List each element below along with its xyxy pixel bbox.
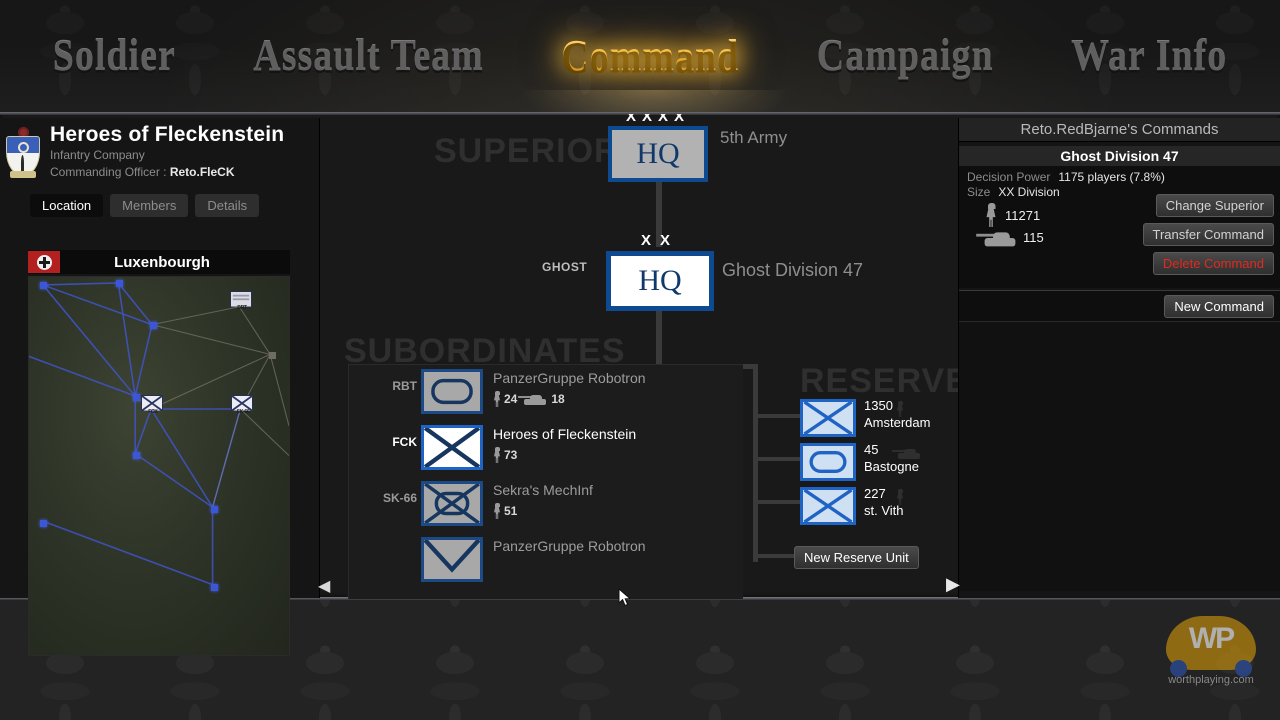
- mouse-cursor-icon: [618, 588, 632, 608]
- worthplaying-watermark: WP worthplaying.com: [1152, 612, 1270, 704]
- subordinate-stats: 24 18: [493, 391, 565, 407]
- reserves-list: 1350 Amsterdam 45 Bastogne 227 st. Vith: [800, 399, 960, 531]
- map-node-neutral[interactable]: [269, 352, 276, 359]
- scroll-left-arrow-icon[interactable]: ◀: [318, 578, 332, 596]
- subordinates-list: RBT PanzerGruppe Robotron 24 18 FCK: [348, 364, 743, 599]
- unit-header: Heroes of Fleckenstein Infantry Company …: [0, 118, 319, 180]
- nav-tab-war-info[interactable]: War Info: [1071, 30, 1227, 82]
- reserve-place: Bastogne: [864, 459, 919, 474]
- soldier-count: 24: [493, 391, 517, 407]
- command-action-buttons: Change Superior Transfer Command Delete …: [1143, 194, 1275, 275]
- delete-command-button[interactable]: Delete Command: [1153, 252, 1274, 275]
- commands-list-empty-area: [959, 321, 1280, 591]
- map-node[interactable]: [40, 282, 47, 289]
- armor-symbol-icon[interactable]: [800, 443, 856, 481]
- subordinate-name: Sekra's MechInf: [493, 482, 593, 498]
- tab-details[interactable]: Details: [195, 194, 259, 217]
- nav-tab-soldier[interactable]: Soldier: [53, 30, 176, 82]
- new-command-row: New Command: [959, 291, 1280, 321]
- subordinate-name: Heroes of Fleckenstein: [493, 426, 636, 442]
- new-command-button[interactable]: New Command: [1164, 295, 1274, 318]
- command-details: Decision Power 1175 players (7.8%) Size …: [959, 166, 1280, 288]
- infantry-symbol-icon[interactable]: [800, 399, 856, 437]
- size-label: Size: [967, 185, 990, 200]
- tank-icon: [982, 229, 1018, 246]
- map-unit-label: FCK: [142, 409, 164, 415]
- subordinate-tag: RBT: [359, 379, 417, 393]
- map-unit-marker[interactable]: SK-66: [231, 395, 253, 411]
- map-unit-label: BRT: [231, 305, 253, 311]
- commands-panel: Reto.RedBjarne's Commands Ghost Division…: [958, 118, 1280, 598]
- map-node[interactable]: [133, 394, 140, 401]
- reserve-row[interactable]: 227 st. Vith: [800, 487, 960, 529]
- tab-members[interactable]: Members: [110, 194, 188, 217]
- subordinate-tag: SK-66: [359, 491, 417, 505]
- unit-crest-icon: [4, 124, 42, 180]
- soldier-count-value: 24: [504, 392, 517, 406]
- soldier-icon: [985, 203, 997, 227]
- reserve-count: 227: [864, 486, 886, 501]
- map-node[interactable]: [211, 584, 218, 591]
- location-name: Luxenbourgh: [60, 254, 290, 271]
- nav-tab-assault-team[interactable]: Assault Team: [253, 30, 484, 82]
- decision-power-label: Decision Power: [967, 170, 1050, 185]
- superior-hq-node[interactable]: HQ: [608, 126, 708, 182]
- reserve-row[interactable]: 1350 Amsterdam: [800, 399, 960, 441]
- tank-count: 18: [522, 392, 564, 406]
- soldier-total-value: 11271: [1005, 208, 1040, 223]
- tree-connector-branch: [753, 554, 798, 558]
- infantry-symbol-icon[interactable]: [800, 487, 856, 525]
- decision-power-row: Decision Power 1175 players (7.8%): [967, 170, 1272, 185]
- new-reserve-unit-button[interactable]: New Reserve Unit: [794, 546, 919, 569]
- reserve-count: 45: [864, 442, 878, 457]
- division-echelon-label: XX: [606, 232, 714, 249]
- subordinate-name: PanzerGruppe Robotron: [493, 370, 646, 386]
- tank-count-value: 18: [551, 392, 564, 406]
- recon-symbol-icon[interactable]: [421, 537, 483, 582]
- selected-command-name: Ghost Division 47: [959, 146, 1280, 166]
- size-value: XX Division: [998, 185, 1059, 200]
- reserve-place: Amsterdam: [864, 415, 930, 430]
- subordinate-row[interactable]: PanzerGruppe Robotron: [349, 533, 743, 589]
- co-name: Reto.FleCK: [170, 165, 235, 179]
- tank-total-value: 115: [1023, 230, 1044, 245]
- nav-tab-command[interactable]: Command: [561, 30, 739, 82]
- soldier-count: 51: [493, 503, 517, 519]
- map-node[interactable]: [150, 322, 157, 329]
- map-node[interactable]: [40, 520, 47, 527]
- tree-connector-vertical: [753, 364, 758, 562]
- reserve-row[interactable]: 45 Bastogne: [800, 443, 960, 485]
- subordinate-row[interactable]: SK-66 Sekra's MechInf 51: [349, 477, 743, 533]
- superior-hq-badge: HQ: [636, 137, 679, 171]
- soldier-count-value: 51: [504, 504, 517, 518]
- subordinate-stats: 51: [493, 503, 517, 519]
- soldier-count-value: 73: [504, 448, 517, 462]
- subordinate-row[interactable]: RBT PanzerGruppe Robotron 24 18: [349, 365, 743, 421]
- subordinate-row[interactable]: FCK Heroes of Fleckenstein 73: [349, 421, 743, 477]
- wp-logo-letters: WP: [1152, 622, 1270, 656]
- co-label: Commanding Officer :: [50, 165, 167, 179]
- division-hq-node[interactable]: HQ: [606, 251, 714, 311]
- tank-icon: [896, 447, 922, 459]
- tree-connector-branch: [753, 414, 801, 418]
- soldier-icon: [493, 391, 501, 407]
- transfer-command-button[interactable]: Transfer Command: [1143, 223, 1275, 246]
- unit-name: Heroes of Fleckenstein: [50, 124, 284, 146]
- main-navigation: Soldier Assault Team Command Campaign Wa…: [0, 0, 1280, 112]
- unit-type: Infantry Company: [50, 148, 284, 162]
- subordinate-stats: 73: [493, 447, 517, 463]
- reserve-count: 1350: [864, 398, 893, 413]
- map-node[interactable]: [211, 506, 218, 513]
- map-links: [29, 277, 289, 654]
- unit-meta: Heroes of Fleckenstein Infantry Company …: [50, 122, 284, 180]
- scroll-right-arrow-icon[interactable]: ▶: [946, 574, 962, 594]
- location-header: Luxenbourgh: [28, 250, 290, 274]
- division-tag: GHOST: [542, 260, 587, 274]
- division-hq-badge: HQ: [638, 264, 681, 298]
- tree-connector-vertical: [656, 311, 662, 368]
- tree-connector-branch: [753, 500, 801, 504]
- commands-panel-title: Reto.RedBjarne's Commands: [959, 118, 1280, 142]
- faction-flag-icon: [28, 251, 60, 273]
- mech-infantry-symbol-icon[interactable]: [421, 481, 483, 526]
- superior-echelon-label: XXXX: [608, 114, 708, 125]
- tab-location[interactable]: Location: [30, 194, 103, 217]
- superior-section-label: SUPERIOR: [434, 132, 620, 171]
- subordinate-tag: FCK: [359, 435, 417, 449]
- soldier-icon: [493, 503, 501, 519]
- soldier-icon: [493, 447, 501, 463]
- soldier-count: 73: [493, 447, 517, 463]
- map-node[interactable]: [116, 280, 123, 287]
- change-superior-button[interactable]: Change Superior: [1156, 194, 1274, 217]
- subordinate-name: PanzerGruppe Robotron: [493, 538, 646, 554]
- map-building-marker[interactable]: BRT: [230, 291, 252, 307]
- superior-node-name: 5th Army: [720, 128, 787, 148]
- panel-tabs: Location Members Details: [0, 180, 319, 217]
- nav-tab-campaign[interactable]: Campaign: [817, 30, 994, 82]
- infantry-symbol-icon[interactable]: [421, 425, 483, 470]
- division-node-name: Ghost Division 47: [722, 260, 863, 281]
- command-tree: SUPERIOR SUBORDINATES RESERVES HQ XXXX 5…: [330, 114, 960, 599]
- tank-icon: [522, 393, 548, 405]
- reserves-section-label: RESERVES: [800, 362, 960, 401]
- map-unit-label: SK-66: [232, 409, 254, 415]
- armor-symbol-icon[interactable]: [421, 369, 483, 414]
- unit-info-panel: Heroes of Fleckenstein Infantry Company …: [0, 118, 320, 598]
- map-unit-marker[interactable]: FCK: [141, 395, 163, 411]
- commanding-officer-line: Commanding Officer : Reto.FleCK: [50, 165, 284, 179]
- strategic-map[interactable]: FCK SK-66 BRT: [28, 276, 290, 656]
- map-node[interactable]: [133, 452, 140, 459]
- tree-connector-branch: [753, 457, 801, 461]
- decision-power-value: 1175 players (7.8%): [1058, 170, 1165, 185]
- reserve-place: st. Vith: [864, 503, 904, 518]
- wp-logo-icon: WP: [1152, 612, 1270, 676]
